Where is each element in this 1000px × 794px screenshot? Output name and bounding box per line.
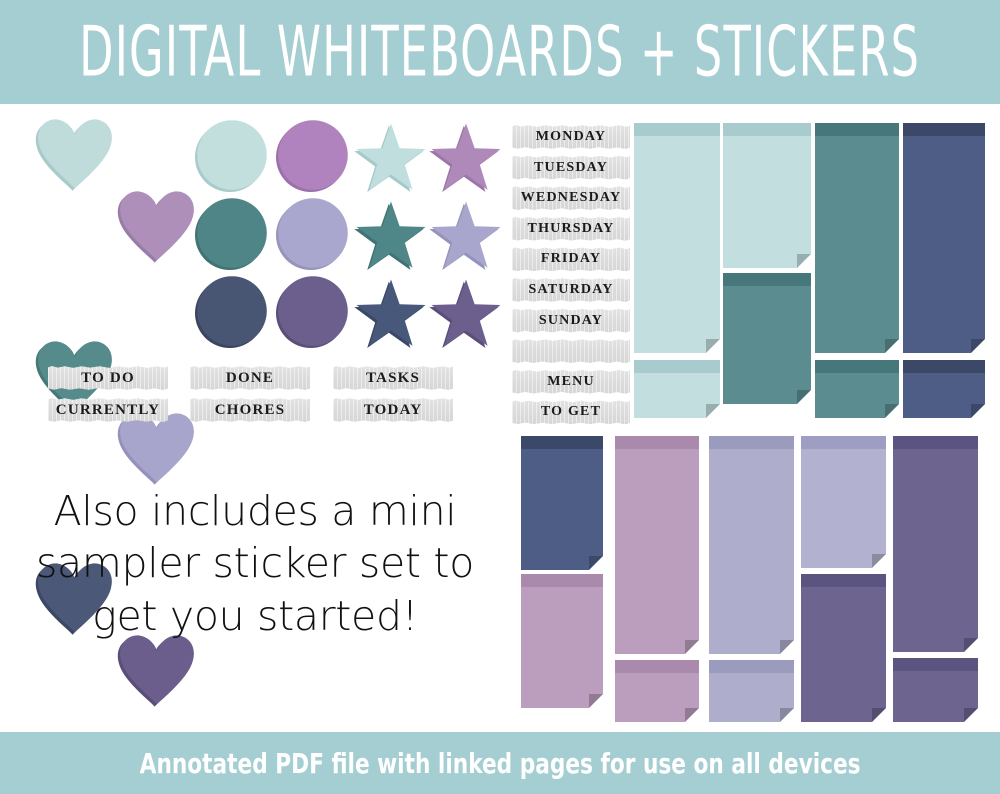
sticky-note-p-dark-mid[interactable] xyxy=(801,574,886,722)
note-header-bar xyxy=(521,574,603,587)
tape-label-today[interactable]: TODAY xyxy=(333,398,453,422)
sticky-note-teal-tall-2[interactable] xyxy=(723,123,811,268)
tape-label-text: TO GET xyxy=(541,404,601,420)
note-header-bar xyxy=(634,123,720,136)
note-header-bar xyxy=(903,360,985,373)
note-body xyxy=(615,436,699,654)
note-header-bar xyxy=(815,123,899,136)
tape-label-text: MONDAY xyxy=(536,129,606,145)
sticky-note-p-peri2-tall[interactable] xyxy=(801,436,886,568)
note-body xyxy=(723,273,811,404)
note-body xyxy=(521,436,603,570)
note-body xyxy=(903,123,985,353)
promo-line-2: sampler sticker set to xyxy=(30,537,480,589)
note-folded-corner-icon xyxy=(964,638,978,652)
sticky-note-teal-small-3[interactable] xyxy=(815,360,899,418)
note-header-bar xyxy=(634,360,720,373)
note-body xyxy=(801,574,886,722)
note-header-bar xyxy=(709,660,794,673)
circle-sticker[interactable] xyxy=(195,196,269,270)
note-header-bar xyxy=(903,123,985,136)
tape-label-to-get[interactable]: TO GET xyxy=(512,400,630,424)
note-folded-corner-icon xyxy=(971,339,985,353)
tape-label-menu[interactable]: MENU xyxy=(512,370,630,394)
tape-label-tuesday[interactable]: TUESDAY xyxy=(512,156,630,180)
tape-label-sunday[interactable]: SUNDAY xyxy=(512,309,630,333)
tape-label-text: WEDNESDAY xyxy=(521,190,622,206)
tape-label-thursday[interactable]: THURSDAY xyxy=(512,217,630,241)
note-body xyxy=(521,574,603,708)
heart-sticker[interactable] xyxy=(118,412,196,484)
circle-sticker[interactable] xyxy=(195,274,269,348)
heart-sticker[interactable] xyxy=(118,190,196,262)
note-header-bar xyxy=(815,360,899,373)
poster-canvas: DIGITAL WHITEBOARDS + STICKERS TO DODONE… xyxy=(0,0,1000,794)
sticky-note-p-mauve-small[interactable] xyxy=(521,574,603,708)
sticky-note-p-peri-wide[interactable] xyxy=(709,660,794,722)
promo-line-1: Also includes a mini xyxy=(30,485,480,537)
sticky-note-p-dark-tall[interactable] xyxy=(893,436,978,652)
note-body xyxy=(893,436,978,652)
note-folded-corner-icon xyxy=(706,339,720,353)
star-sticker[interactable] xyxy=(430,278,502,348)
note-body xyxy=(709,436,794,654)
tape-label-text: CHORES xyxy=(215,402,286,419)
tape-label-to-do[interactable]: TO DO xyxy=(48,366,168,390)
tape-label-text: TASKS xyxy=(366,370,420,387)
tape-label-wednesday[interactable]: WEDNESDAY xyxy=(512,186,630,210)
footer-note: Annotated PDF file with linked pages for… xyxy=(140,747,861,780)
note-body xyxy=(634,123,720,353)
circle-sticker[interactable] xyxy=(276,274,350,348)
note-folded-corner-icon xyxy=(685,640,699,654)
sticky-note-teal-mid-2[interactable] xyxy=(723,273,811,404)
note-header-bar xyxy=(521,436,603,449)
tape-label-text: TODAY xyxy=(364,402,423,419)
tape-label-friday[interactable]: FRIDAY xyxy=(512,247,630,271)
sticky-note-teal-tall-1[interactable] xyxy=(634,123,720,353)
note-folded-corner-icon xyxy=(685,708,699,722)
note-header-bar xyxy=(615,436,699,449)
sticky-note-p-dark-wide[interactable] xyxy=(893,658,978,722)
note-folded-corner-icon xyxy=(780,708,794,722)
note-folded-corner-icon xyxy=(872,708,886,722)
sticky-note-blue-small-4[interactable] xyxy=(903,360,985,418)
note-header-bar xyxy=(709,436,794,449)
promo-text: Also includes a mini sampler sticker set… xyxy=(30,485,480,642)
tape-label-text: SUNDAY xyxy=(539,313,603,329)
heart-sticker[interactable] xyxy=(118,634,196,706)
circle-sticker[interactable] xyxy=(276,196,350,270)
note-folded-corner-icon xyxy=(589,694,603,708)
note-folded-corner-icon xyxy=(780,640,794,654)
page-title: DIGITAL WHITEBOARDS + STICKERS xyxy=(79,17,920,86)
tape-label-text: SATURDAY xyxy=(528,282,613,298)
top-banner: DIGITAL WHITEBOARDS + STICKERS xyxy=(0,0,1000,104)
note-folded-corner-icon xyxy=(797,390,811,404)
note-header-bar xyxy=(801,436,886,449)
note-body xyxy=(801,436,886,568)
star-sticker[interactable] xyxy=(355,122,427,192)
note-header-bar xyxy=(723,123,811,136)
star-sticker[interactable] xyxy=(430,200,502,270)
note-folded-corner-icon xyxy=(885,404,899,418)
star-sticker[interactable] xyxy=(355,278,427,348)
tape-label-text: TUESDAY xyxy=(534,160,608,176)
tape-label-text: MENU xyxy=(547,374,595,390)
note-folded-corner-icon xyxy=(706,404,720,418)
star-sticker[interactable] xyxy=(355,200,427,270)
note-header-bar xyxy=(615,660,699,673)
tape-label-text: CURRENTLY xyxy=(56,402,160,419)
tape-label-text: FRIDAY xyxy=(541,251,601,267)
tape-label-tasks[interactable]: TASKS xyxy=(333,366,453,390)
note-folded-corner-icon xyxy=(589,556,603,570)
circle-sticker[interactable] xyxy=(276,118,350,192)
note-header-bar xyxy=(893,658,978,671)
sticky-note-p-mauve-wide[interactable] xyxy=(615,660,699,722)
circle-sticker[interactable] xyxy=(195,118,269,192)
tape-label-blank-7[interactable] xyxy=(512,339,630,363)
sticky-note-teal-tall-3[interactable] xyxy=(815,123,899,353)
note-header-bar xyxy=(723,273,811,286)
tape-label-chores[interactable]: CHORES xyxy=(190,398,310,422)
promo-line-3: get you started! xyxy=(30,590,480,642)
note-folded-corner-icon xyxy=(797,254,811,268)
sticky-note-teal-small-1[interactable] xyxy=(634,360,720,418)
note-folded-corner-icon xyxy=(971,404,985,418)
tape-label-done[interactable]: DONE xyxy=(190,366,310,390)
heart-sticker[interactable] xyxy=(36,118,114,190)
tape-label-text: THURSDAY xyxy=(528,221,615,237)
tape-label-text: TO DO xyxy=(81,370,135,387)
note-body xyxy=(723,123,811,268)
sticky-note-p-mauve-tall[interactable] xyxy=(615,436,699,654)
note-header-bar xyxy=(801,574,886,587)
tape-label-saturday[interactable]: SATURDAY xyxy=(512,278,630,302)
note-folded-corner-icon xyxy=(872,554,886,568)
sticky-note-blue-tall-4[interactable] xyxy=(903,123,985,353)
sticky-note-p-blue-tall[interactable] xyxy=(521,436,603,570)
sticky-note-p-peri-tall[interactable] xyxy=(709,436,794,654)
tape-label-monday[interactable]: MONDAY xyxy=(512,125,630,149)
shape-sticker-grid xyxy=(18,116,486,352)
note-body xyxy=(815,123,899,353)
note-folded-corner-icon xyxy=(964,708,978,722)
tape-label-currently[interactable]: CURRENTLY xyxy=(48,398,168,422)
star-sticker[interactable] xyxy=(430,122,502,192)
tape-label-text: DONE xyxy=(226,370,274,387)
bottom-banner: Annotated PDF file with linked pages for… xyxy=(0,732,1000,794)
note-folded-corner-icon xyxy=(885,339,899,353)
note-header-bar xyxy=(893,436,978,449)
